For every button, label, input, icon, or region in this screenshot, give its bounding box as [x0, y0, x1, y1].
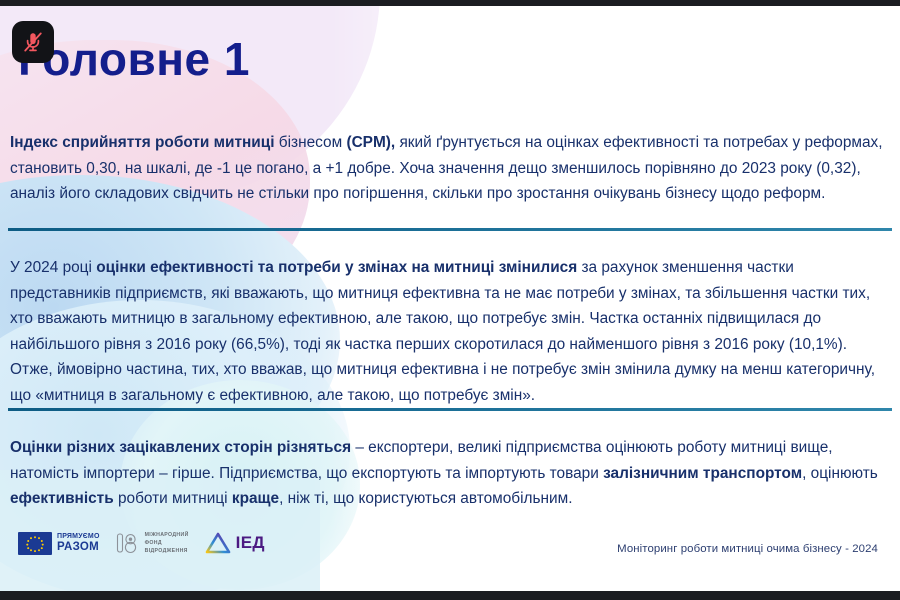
window-top-bar [0, 0, 900, 6]
bullet-paragraph-2: У 2024 році оцінки ефективності та потре… [10, 255, 886, 408]
logo-ied: ІЕД [205, 532, 265, 554]
logo-eu-together: ПРЯМУЄМО РАЗОМ [18, 532, 100, 555]
irf-logo-line2: ФОНД [145, 539, 189, 547]
eu-stars-icon [18, 532, 52, 555]
irf-logo-line1: МІЖНАРОДНИЙ [145, 531, 189, 539]
ied-logo-label: ІЕД [236, 533, 265, 553]
section-divider-2 [8, 408, 892, 411]
ied-triangle-icon [205, 532, 231, 554]
irf-logo-text: МІЖНАРОДНИЙ ФОНД ВІДРОДЖЕННЯ [145, 531, 189, 555]
eu-logo-line1: ПРЯМУЄМО [57, 533, 100, 540]
microphone-muted-icon [21, 30, 45, 54]
eu-logo-text: ПРЯМУЄМО РАЗОМ [57, 533, 100, 552]
section-divider-1 [8, 228, 892, 231]
microphone-muted-badge[interactable] [12, 21, 54, 63]
irf-mark-icon [116, 531, 140, 555]
window-bottom-bar [0, 591, 900, 600]
bullet-paragraph-1: Індекс сприйняття роботи митниці бізнесо… [10, 130, 886, 207]
bullet-paragraph-3: Оцінки різних зацікавлених сторін різнят… [10, 435, 886, 512]
footer-caption: Моніторинг роботи митниці очима бізнесу … [617, 543, 878, 555]
partner-logo-row: ПРЯМУЄМО РАЗОМ МІЖНАРОДНИЙ ФОНД ВІДРОДЖЕ… [18, 531, 265, 555]
eu-flag-icon [18, 532, 52, 555]
presentation-slide: Головне 1 Індекс сприйняття роботи митни… [0, 0, 900, 600]
slide-footer: ПРЯМУЄМО РАЗОМ МІЖНАРОДНИЙ ФОНД ВІДРОДЖЕ… [0, 521, 900, 591]
logo-international-renaissance-foundation: МІЖНАРОДНИЙ ФОНД ВІДРОДЖЕННЯ [116, 531, 189, 555]
irf-logo-line3: ВІДРОДЖЕННЯ [145, 547, 189, 555]
eu-logo-line2: РАЗОМ [57, 541, 100, 553]
